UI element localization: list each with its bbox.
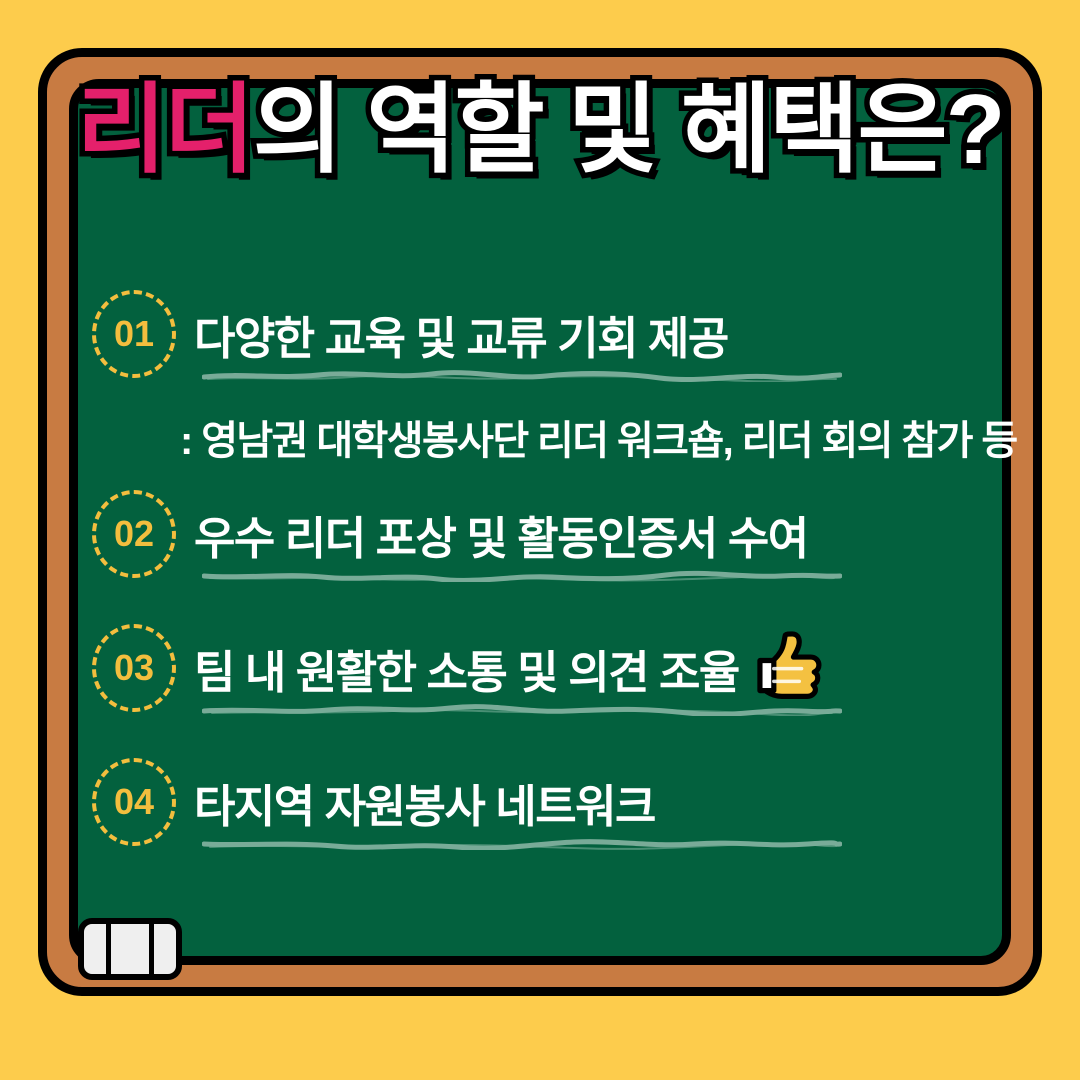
item-number-badge: 02 [92, 490, 176, 578]
thumbs-up-icon [753, 627, 827, 701]
list-item-row: 03 팀 내 원활한 소통 및 의견 조율 [92, 626, 992, 710]
list-item-row: 02 우수 리더 포상 및 활동인증서 수여 [92, 492, 992, 576]
chalkboard-eraser [78, 918, 182, 980]
item-number: 04 [114, 784, 154, 820]
list-item: 02 우수 리더 포상 및 활동인증서 수여 [92, 492, 992, 582]
page-title: 리더의 역할 및 혜택은? [0, 78, 1080, 181]
item-label-text: 타지역 자원봉사 네트워크 [194, 770, 655, 835]
title-rest: 의 역할 및 혜택은? [253, 74, 1004, 184]
list-item: 01 다양한 교육 및 교류 기회 제공 : 영남권 대학생봉사단 리더 워크숍… [92, 292, 992, 466]
list-item: 04 타지역 자원봉사 네트워크 [92, 760, 992, 850]
list-item-row: 04 타지역 자원봉사 네트워크 [92, 760, 992, 844]
chalk-underline [202, 570, 842, 582]
item-subnote: : 영남권 대학생봉사단 리더 워크숍, 리더 회의 참가 등 [180, 408, 992, 466]
item-number: 01 [114, 316, 154, 352]
item-number-badge: 01 [92, 290, 176, 378]
item-number-badge: 03 [92, 624, 176, 712]
eraser-segment-middle [106, 924, 149, 974]
title-text: 리더의 역할 및 혜택은? [77, 78, 1004, 181]
list-item: 03 팀 내 원활한 소통 및 의견 조율 [92, 626, 992, 716]
item-label-text: 다양한 교육 및 교류 기회 제공 [194, 302, 728, 367]
chalk-underline [202, 838, 842, 850]
item-number: 03 [114, 650, 154, 686]
benefit-list: 01 다양한 교육 및 교류 기회 제공 : 영남권 대학생봉사단 리더 워크숍… [92, 292, 992, 856]
item-label: 우수 리더 포상 및 활동인증서 수여 [194, 502, 808, 567]
poster-canvas: 리더의 역할 및 혜택은? 01 다양한 교육 및 교류 기회 제공 : 영남권… [0, 0, 1080, 1080]
item-label: 다양한 교육 및 교류 기회 제공 [194, 302, 728, 367]
eraser-segment-right [149, 924, 176, 974]
item-number-badge: 04 [92, 758, 176, 846]
item-number: 02 [114, 516, 154, 552]
title-accent: 리더 [77, 74, 253, 184]
item-label-text: 우수 리더 포상 및 활동인증서 수여 [194, 502, 808, 567]
list-item-row: 01 다양한 교육 및 교류 기회 제공 [92, 292, 992, 376]
chalk-underline [202, 370, 842, 382]
eraser-segment-left [84, 924, 106, 974]
item-label-text: 팀 내 원활한 소통 및 의견 조율 [194, 636, 739, 701]
chalk-underline [202, 704, 842, 716]
item-label: 타지역 자원봉사 네트워크 [194, 770, 655, 835]
item-label: 팀 내 원활한 소통 및 의견 조율 [194, 631, 827, 705]
